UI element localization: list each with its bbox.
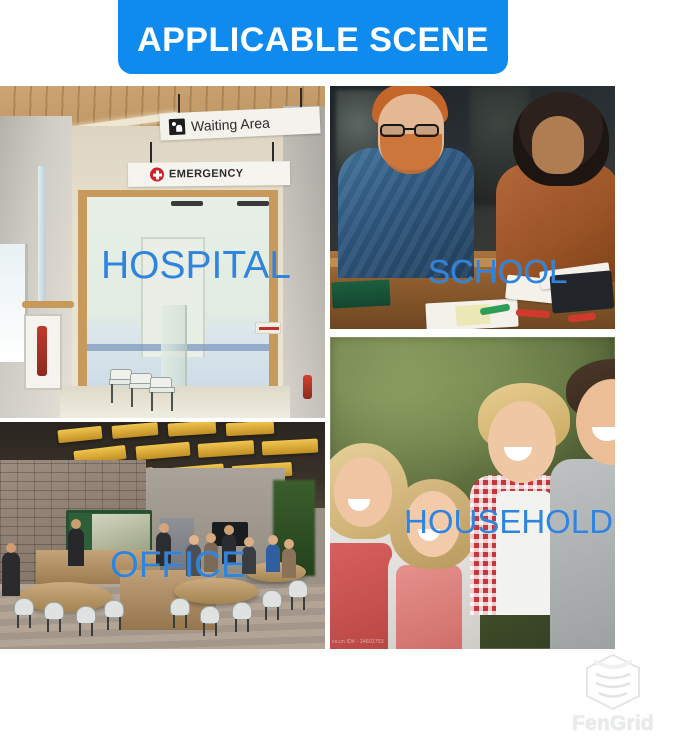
boy-head <box>488 401 556 483</box>
red-cross-icon <box>150 167 164 181</box>
chair-shell <box>76 606 96 624</box>
office-person <box>282 548 296 578</box>
chair-leg <box>107 617 109 630</box>
chair-leg <box>131 388 133 407</box>
hospital-door-hinge <box>237 201 269 206</box>
chair-leg <box>173 615 175 628</box>
hospital-foreground-floor <box>60 386 290 418</box>
office-chair <box>288 580 308 610</box>
chair-leg <box>59 619 61 632</box>
scene-panel-school <box>330 86 615 329</box>
mother-head <box>334 457 392 527</box>
father-grey-sweater <box>550 459 615 649</box>
applicable-scene-infographic: APPLICABLE SCENE <box>0 0 679 743</box>
hospital-fire-extinguisher <box>303 375 312 399</box>
person-head <box>6 543 16 553</box>
chair-leg <box>79 623 81 636</box>
chair-leg <box>91 623 93 636</box>
ceiling-baffle <box>57 426 102 444</box>
waiting-area-pictogram-icon <box>169 118 186 135</box>
hospital-door-hinge <box>171 201 203 206</box>
chair-leg <box>203 623 205 636</box>
chair-shell <box>262 590 282 608</box>
eyeglasses-icon <box>380 124 444 137</box>
mother-red-cardigan <box>330 543 392 649</box>
office-chair <box>262 590 282 620</box>
ceiling-baffle <box>226 422 275 436</box>
chair-leg <box>215 623 217 636</box>
chair-leg <box>235 619 237 632</box>
office-chair <box>76 606 96 636</box>
hospital-doorway <box>78 190 278 418</box>
chair-leg <box>265 607 267 620</box>
person-head <box>284 539 294 549</box>
chair-leg <box>303 597 305 610</box>
office-chair <box>44 602 64 632</box>
chair-shell <box>288 580 308 598</box>
person-head <box>159 523 169 533</box>
person-head <box>224 525 234 535</box>
school-green-notebook <box>331 280 390 309</box>
chair-leg <box>17 615 19 628</box>
waiting-area-sign-text: Waiting Area <box>191 114 271 134</box>
chair-shell <box>44 602 64 620</box>
ceiling-baffle <box>112 422 159 439</box>
chair-leg <box>185 615 187 628</box>
hospital-handrail <box>22 301 74 308</box>
office-chair <box>200 606 220 636</box>
hospital-waiting-chair <box>149 377 175 411</box>
person-head <box>206 533 216 543</box>
office-chair <box>104 600 124 630</box>
chair-shell <box>232 602 252 620</box>
hospital-exit-sign <box>255 322 281 334</box>
person-head <box>71 519 81 529</box>
chair-leg <box>47 619 49 632</box>
brand-name-text: FenGrid <box>572 712 654 736</box>
stock-photo-watermark: co.cn ID# - 24602753 <box>332 639 384 645</box>
chair-leg <box>247 619 249 632</box>
chair-leg <box>171 392 173 411</box>
sign-hanger-rod <box>150 142 152 164</box>
glasses-lens-left <box>380 124 405 137</box>
glasses-lens-right <box>414 124 439 137</box>
emergency-sign-text: EMERGENCY <box>169 168 244 181</box>
office-chair <box>14 598 34 628</box>
scene-label-hospital: HOSPITAL <box>101 246 291 285</box>
scene-panel-office <box>0 422 325 649</box>
chair-shell <box>170 598 190 616</box>
page-title: APPLICABLE SCENE <box>137 21 489 60</box>
hospital-corridor <box>87 197 269 418</box>
hospital-pillar <box>38 166 46 301</box>
sign-hanger-rod <box>178 94 180 114</box>
ceiling-baffle <box>168 422 217 437</box>
office-person <box>2 552 20 596</box>
fengrid-hexagon-logo-icon <box>582 653 644 711</box>
office-person <box>68 528 84 566</box>
office-person <box>266 544 280 572</box>
office-chair <box>232 602 252 632</box>
chair-leg <box>119 617 121 630</box>
chair-shell <box>200 606 220 624</box>
scene-label-office: OFFICE <box>110 546 246 583</box>
header-banner: APPLICABLE SCENE <box>118 0 508 74</box>
person-head <box>268 535 278 545</box>
scene-panel-household: co.cn ID# - 24602753 <box>330 337 615 649</box>
ceiling-baffle <box>135 442 190 461</box>
office-chair <box>170 598 190 628</box>
chair-leg <box>277 607 279 620</box>
girl-pink-top <box>396 565 462 649</box>
scene-label-household: HOUSEHOLD <box>404 505 613 538</box>
ceiling-baffle <box>262 439 319 456</box>
chair-shell <box>104 600 124 618</box>
chair-leg <box>151 392 153 411</box>
hospital-fire-extinguisher-cabinet <box>24 314 62 390</box>
glasses-bridge <box>405 128 414 130</box>
brand-logo: FenGrid <box>552 653 674 739</box>
emergency-sign: EMERGENCY <box>128 161 290 187</box>
ceiling-baffle <box>198 440 255 458</box>
scene-label-school: SCHOOL <box>428 255 567 288</box>
school-student-female-head <box>532 116 584 174</box>
chair-leg <box>29 615 31 628</box>
chair-leg <box>111 384 113 403</box>
chair-shell <box>14 598 34 616</box>
chair-leg <box>291 597 293 610</box>
